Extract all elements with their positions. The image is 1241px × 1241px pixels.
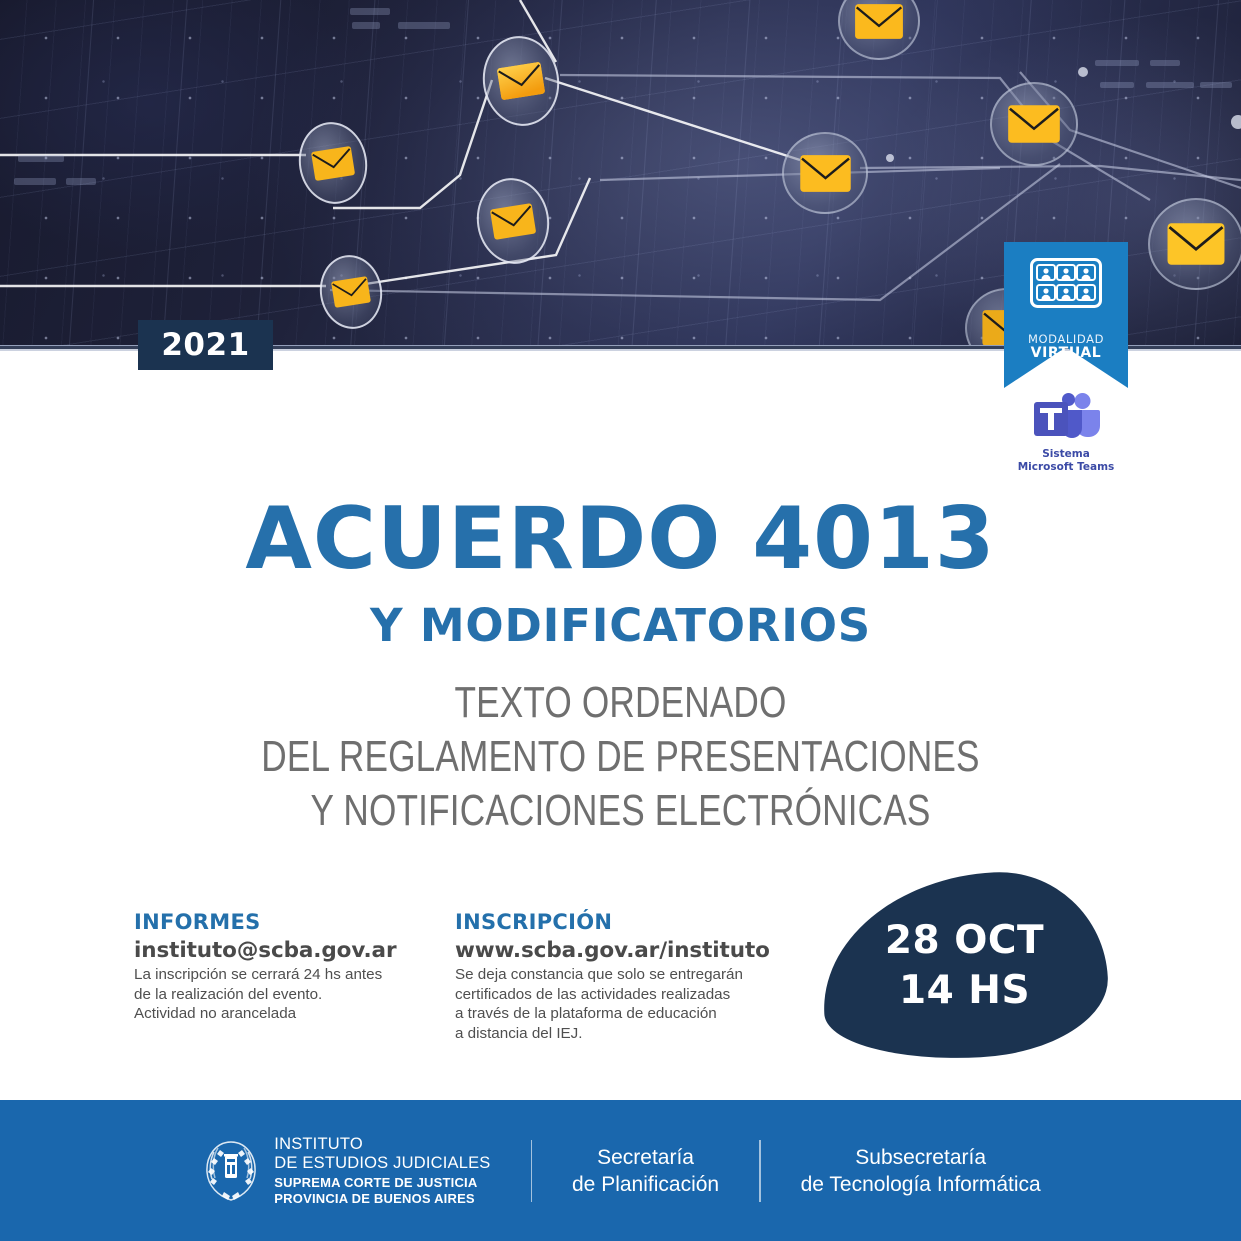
date-badge-date: 28 OCT bbox=[885, 916, 1044, 966]
subsecretaria-line-1: Subsecretaría bbox=[801, 1144, 1041, 1171]
date-badge-time: 14 HS bbox=[899, 966, 1030, 1016]
description-line-2: DEL REGLAMENTO DE PRESENTACIONES bbox=[124, 730, 1117, 784]
informes-block: INFORMES instituto@scba.gov.ar La inscri… bbox=[134, 910, 396, 1024]
institute-line-3: SUPREMA CORTE DE JUSTICIA bbox=[274, 1175, 490, 1191]
informes-email[interactable]: instituto@scba.gov.ar bbox=[134, 938, 396, 963]
footer-divider-1 bbox=[531, 1140, 533, 1202]
institute-line-2: DE ESTUDIOS JUDICIALES bbox=[274, 1154, 490, 1173]
poster-root: 2021 MODALIDAD VIRTUAL bbox=[0, 0, 1241, 1241]
badge-modalidad-label: MODALIDAD bbox=[1004, 332, 1128, 346]
secretaria-line-2: de Planificación bbox=[572, 1171, 719, 1198]
inscripcion-details: Se deja constancia que solo se entregará… bbox=[455, 965, 770, 1043]
page-subtitle: Y MODIFICATORIOS bbox=[0, 601, 1241, 651]
year-tag-label: 2021 bbox=[161, 327, 249, 363]
description-line-1: TEXTO ORDENADO bbox=[124, 676, 1117, 730]
page-description: TEXTO ORDENADO DEL REGLAMENTO DE PRESENT… bbox=[124, 676, 1117, 838]
informes-line-1: La inscripción se cerrará 24 hs antes bbox=[134, 965, 396, 985]
envelope-glyph bbox=[496, 61, 547, 102]
inscripcion-url[interactable]: www.scba.gov.ar/instituto bbox=[455, 938, 770, 963]
institute-line-1: INSTITUTO bbox=[274, 1135, 490, 1154]
page-title: ACUERDO 4013 bbox=[0, 493, 1241, 585]
video-grid-icon bbox=[1030, 258, 1102, 308]
informes-line-2: de la realización del evento. bbox=[134, 985, 396, 1005]
date-badge: 28 OCT 14 HS bbox=[822, 874, 1107, 1058]
envelope-icon bbox=[1148, 198, 1241, 290]
footer-content: INSTITUTO DE ESTUDIOS JUDICIALES SUPREMA… bbox=[200, 1135, 1040, 1207]
inscripcion-line-3: a través de la plataforma de educación bbox=[455, 1004, 770, 1024]
secretaria-block: Secretaría de Planificación bbox=[572, 1144, 719, 1198]
inscripcion-line-1: Se deja constancia que solo se entregará… bbox=[455, 965, 770, 985]
teams-caption: Sistema Microsoft Teams bbox=[1002, 448, 1130, 473]
inscripcion-line-2: certificados de las actividades realizad… bbox=[455, 985, 770, 1005]
badge-virtual-label: VIRTUAL bbox=[1004, 345, 1128, 361]
inscripcion-line-4: a distancia del IEJ. bbox=[455, 1024, 770, 1044]
microsoft-teams-icon bbox=[1032, 392, 1102, 444]
institute-line-4: PROVINCIA DE BUENOS AIRES bbox=[274, 1191, 490, 1207]
envelope-icon bbox=[990, 82, 1078, 166]
teams-caption-line1: Sistema bbox=[1002, 448, 1130, 461]
modalidad-virtual-badge: MODALIDAD VIRTUAL bbox=[1004, 242, 1128, 388]
footer-divider-2 bbox=[759, 1140, 761, 1202]
description-line-3: Y NOTIFICACIONES ELECTRÓNICAS bbox=[124, 784, 1117, 838]
institute-name: INSTITUTO DE ESTUDIOS JUDICIALES SUPREMA… bbox=[274, 1135, 490, 1207]
subsecretaria-line-2: de Tecnología Informática bbox=[801, 1171, 1041, 1198]
envelope-icon bbox=[782, 132, 868, 214]
informes-details: La inscripción se cerrará 24 hs antes de… bbox=[134, 965, 396, 1024]
informes-heading: INFORMES bbox=[134, 910, 396, 934]
inscripcion-heading: INSCRIPCIÓN bbox=[455, 910, 770, 934]
informes-line-3: Actividad no arancelada bbox=[134, 1004, 396, 1024]
subsecretaria-block: Subsecretaría de Tecnología Informática bbox=[801, 1144, 1041, 1198]
teams-caption-line2: Microsoft Teams bbox=[1002, 461, 1130, 474]
inscripcion-block: INSCRIPCIÓN www.scba.gov.ar/instituto Se… bbox=[455, 910, 770, 1043]
institute-crest-icon bbox=[200, 1136, 262, 1206]
year-tag: 2021 bbox=[138, 320, 273, 370]
footer-bar: INSTITUTO DE ESTUDIOS JUDICIALES SUPREMA… bbox=[0, 1100, 1241, 1241]
secretaria-line-1: Secretaría bbox=[572, 1144, 719, 1171]
